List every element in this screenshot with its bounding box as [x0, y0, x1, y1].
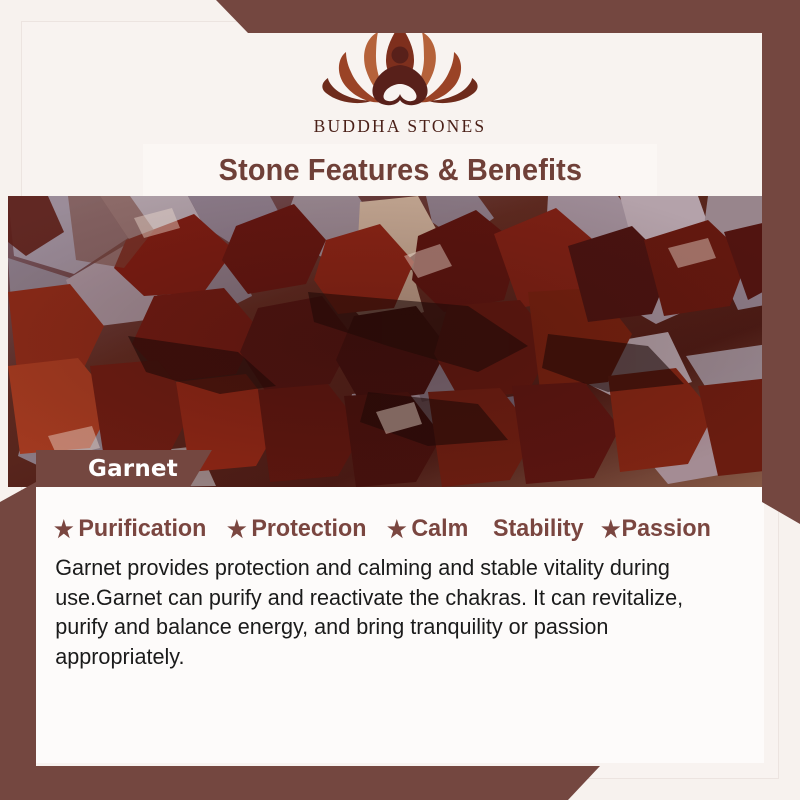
feature-label: Purification	[78, 515, 206, 543]
star-icon: ★	[54, 518, 74, 541]
brand-logo-block: BUDDHA STONES	[0, 22, 800, 142]
feature-label: Passion	[622, 515, 711, 543]
feature-item-stability: Stability	[493, 515, 584, 543]
title-banner: Stone Features & Benefits	[143, 144, 657, 196]
feature-item-calm: ★ Calm	[387, 515, 468, 543]
frame-right-band	[762, 0, 800, 524]
star-icon: ★	[227, 518, 247, 541]
star-icon: ★	[601, 518, 621, 541]
feature-label: Stability	[493, 515, 584, 543]
product-info-card: BUDDHA STONES Stone Features & Benefits	[0, 0, 800, 800]
feature-item-purification: ★ Purification	[54, 515, 206, 543]
frame-left-band	[0, 482, 36, 800]
page-title: Stone Features & Benefits	[218, 152, 582, 188]
feature-item-passion: ★ Passion	[601, 515, 711, 543]
garnet-photo	[8, 196, 792, 487]
features-list: ★ Purification ★ Protection ★ Calm Stabi…	[36, 493, 764, 543]
content-panel: ★ Purification ★ Protection ★ Calm Stabi…	[36, 487, 764, 763]
description-text: Garnet provides protection and calming a…	[36, 543, 763, 672]
brand-name: BUDDHA STONES	[314, 116, 487, 137]
feature-label: Calm	[412, 515, 469, 543]
stone-name: Garnet	[88, 456, 178, 482]
lotus-meditation-icon	[316, 22, 484, 114]
feature-label: Protection	[252, 515, 367, 543]
star-icon: ★	[387, 518, 407, 541]
stone-name-tag: Garnet	[36, 450, 212, 487]
feature-item-protection: ★ Protection	[227, 515, 366, 543]
